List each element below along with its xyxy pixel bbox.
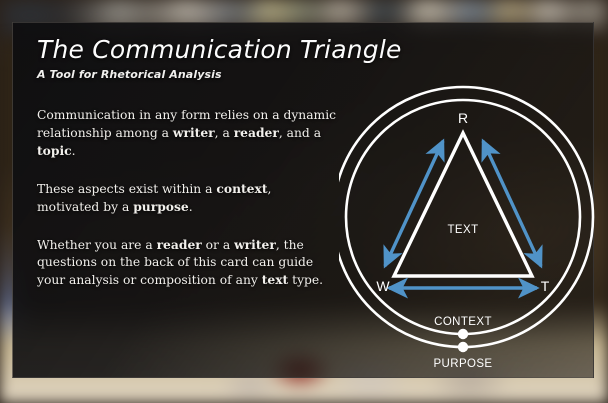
purpose-dot — [458, 342, 468, 352]
emphasis-term: writer — [234, 237, 276, 252]
body-text-run: , and a — [279, 126, 321, 140]
ring-label-context: CONTEXT — [434, 316, 492, 328]
context-dot — [458, 329, 468, 339]
paragraph-2: These aspects exist within a context, mo… — [37, 180, 337, 216]
ring-label-purpose: PURPOSE — [433, 358, 492, 370]
vertex-label-topic: T — [541, 278, 550, 294]
emphasis-term: writer — [173, 125, 215, 140]
page-subtitle: A Tool for Rhetorical Analysis — [37, 68, 337, 81]
body-text-run: These aspects exist within a — [37, 182, 216, 196]
arrow-writer-reader — [385, 141, 443, 266]
paragraph-3: Whether you are a reader or a writer, th… — [37, 236, 337, 289]
arrow-reader-topic — [483, 141, 541, 266]
slide-canvas: The Communication Triangle A Tool for Rh… — [0, 0, 608, 403]
body-text-run: or a — [202, 238, 234, 252]
emphasis-term: text — [262, 272, 289, 287]
text-column: The Communication Triangle A Tool for Rh… — [37, 35, 337, 301]
body-text-run: , a — [215, 126, 234, 140]
body-text-run: . — [189, 200, 193, 214]
emphasis-term: topic — [37, 143, 72, 158]
body-text-run: . — [72, 144, 76, 158]
paragraph-1: Communication in any form relies on a dy… — [37, 107, 337, 160]
emphasis-term: reader — [157, 237, 202, 252]
vertex-label-writer: W — [376, 278, 390, 294]
emphasis-term: purpose — [133, 199, 189, 214]
body-text-run: Whether you are a — [37, 238, 157, 252]
content-card: The Communication Triangle A Tool for Rh… — [12, 22, 594, 378]
emphasis-term: reader — [234, 125, 279, 140]
emphasis-term: context — [216, 181, 267, 196]
body-text-run: type. — [288, 273, 323, 287]
page-title: The Communication Triangle — [37, 35, 337, 64]
outer-circle-purpose — [339, 87, 593, 347]
communication-triangle-diagram: R W T TEXT CONTEXT PURPOSE — [339, 75, 599, 375]
vertex-label-reader: R — [458, 110, 468, 126]
center-label-text: TEXT — [448, 224, 479, 236]
